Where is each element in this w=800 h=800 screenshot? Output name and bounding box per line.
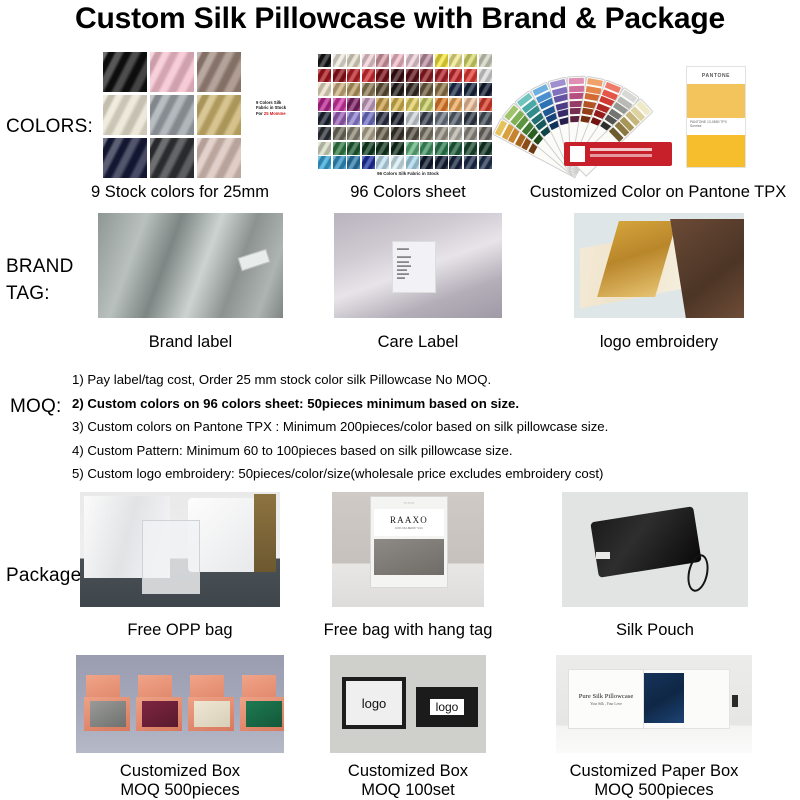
sheet-swatch-83 (464, 142, 477, 155)
brand-label-tag (238, 249, 271, 272)
sheet-swatch-29 (376, 83, 389, 96)
logo-box-caption: Customized Box MOQ 100set (320, 762, 496, 800)
color-sheet-inline-caption: 96 Colors Silk Fabric in Stock (319, 171, 497, 176)
sheet-swatch-35 (464, 83, 477, 96)
stock-colors-note: 9 Colors Silk Fabric in Stock For 25 Mom… (256, 100, 302, 116)
opp-bag-clear (142, 520, 200, 594)
moq-item-3: 3) Custom colors on Pantone TPX : Minimu… (72, 415, 692, 439)
paper-box-sleeve: Pure Silk Pillowcase Your Silk , Your Lo… (568, 669, 644, 729)
brand-row-label-line2: TAG: (6, 283, 50, 305)
sheet-swatch-4 (362, 54, 375, 67)
sheet-swatch-8 (420, 54, 433, 67)
sheet-swatch-10 (449, 54, 462, 67)
stock-swatch-8 (150, 138, 194, 178)
care-label-tag: ▃▃▃▃▃▃ ▃▃▃▃▃▃▃▃▃▃▃▃▃▃▃▃▃▃▃▃▃▃▃▃▃▃▃▃▃▃▃▃▃… (392, 241, 436, 293)
stock-swatch-6 (197, 95, 241, 135)
paper-box-accent (732, 695, 738, 707)
brand-label-photo (98, 213, 283, 318)
sheet-swatch-81 (435, 142, 448, 155)
care-label-photo: ▃▃▃▃▃▃ ▃▃▃▃▃▃▃▃▃▃▃▃▃▃▃▃▃▃▃▃▃▃▃▃▃▃▃▃▃▃▃▃▃… (334, 213, 502, 318)
sheet-swatch-34 (449, 83, 462, 96)
sheet-swatch-77 (376, 142, 389, 155)
opp-bag-caption: Free OPP bag (80, 621, 280, 640)
sheet-swatch-21 (435, 69, 448, 82)
sheet-swatch-88 (362, 156, 375, 169)
moq-row-label: MOQ: (10, 396, 61, 418)
hang-tag-brand: RAAXO (374, 515, 444, 525)
sheet-swatch-7 (406, 54, 419, 67)
sheet-swatch-91 (406, 156, 419, 169)
sheet-swatch-82 (449, 142, 462, 155)
sheet-swatch-26 (333, 83, 346, 96)
logo-embroidery-caption: logo embroidery (574, 333, 744, 352)
sheet-swatch-71 (464, 127, 477, 140)
sheet-swatch-72 (479, 127, 492, 140)
sheet-swatch-90 (391, 156, 404, 169)
customized-box-1 (84, 675, 130, 733)
color-sheet-grid (318, 54, 492, 169)
moq-item-5: 5) Custom logo embroidery: 50pieces/colo… (72, 462, 692, 486)
paper-box-photo: Pure Silk Pillowcase Your Silk , Your Lo… (556, 655, 752, 753)
sheet-swatch-36 (479, 83, 492, 96)
pantone-caption: Customized Color on Pantone TPX (516, 183, 800, 202)
sheet-swatch-84 (479, 142, 492, 155)
sheet-swatch-68 (420, 127, 433, 140)
sheet-swatch-20 (420, 69, 433, 82)
paper-box-title: Pure Silk Pillowcase (579, 693, 634, 700)
sheet-swatch-74 (333, 142, 346, 155)
pantone-card-header: PANTONE (687, 67, 745, 84)
pantone-card-code: PANTONE 13-0850 TPX Sunrise (687, 118, 745, 135)
stock-colors-grid (103, 52, 241, 178)
sheet-swatch-87 (347, 156, 360, 169)
sheet-swatch-49 (318, 112, 331, 125)
sheet-swatch-94 (449, 156, 462, 169)
sheet-swatch-44 (420, 98, 433, 111)
sheet-swatch-47 (464, 98, 477, 111)
logo-box-photo: logo logo (330, 655, 486, 753)
sheet-swatch-67 (406, 127, 419, 140)
sheet-swatch-28 (362, 83, 375, 96)
silk-pouch-body (590, 506, 701, 578)
sheet-swatch-92 (420, 156, 433, 169)
sheet-swatch-96 (479, 156, 492, 169)
moq-list: 1) Pay label/tag cost, Order 25 mm stock… (72, 368, 692, 486)
pantone-swatch-card: PANTONE PANTONE 13-0850 TPX Sunrise (686, 66, 746, 168)
silk-pouch-photo (562, 492, 748, 607)
sheet-swatch-30 (391, 83, 404, 96)
sheet-swatch-19 (406, 69, 419, 82)
sheet-swatch-9 (435, 54, 448, 67)
color-sheet-photo: 96 Colors Silk Fabric in Stock (312, 48, 504, 178)
sheet-swatch-3 (347, 54, 360, 67)
sheet-swatch-39 (347, 98, 360, 111)
package-row-label: Package: (6, 565, 87, 587)
sheet-swatch-60 (479, 112, 492, 125)
hang-tag-silk (374, 539, 444, 575)
stock-swatch-4 (103, 95, 147, 135)
care-label-caption: Care Label (334, 333, 502, 352)
sheet-swatch-70 (449, 127, 462, 140)
sheet-swatch-33 (435, 83, 448, 96)
sheet-swatch-18 (391, 69, 404, 82)
paper-box-caption: Customized Paper Box MOQ 500pieces (546, 762, 762, 800)
sheet-swatch-43 (406, 98, 419, 111)
logo-box-open: logo (342, 677, 406, 729)
sheet-swatch-63 (347, 127, 360, 140)
sheet-swatch-15 (347, 69, 360, 82)
stock-swatch-3 (197, 52, 241, 92)
pantone-swatch-top (687, 84, 745, 118)
sheet-swatch-45 (435, 98, 448, 111)
sheet-swatch-76 (362, 142, 375, 155)
sheet-swatch-79 (406, 142, 419, 155)
paper-box-subtitle: Your Silk , Your Love (590, 702, 622, 706)
customized-box-photo (76, 655, 284, 753)
sheet-swatch-48 (479, 98, 492, 111)
sheet-swatch-6 (391, 54, 404, 67)
sheet-swatch-62 (333, 127, 346, 140)
sheet-swatch-25 (318, 83, 331, 96)
pantone-fan-base (564, 142, 672, 166)
sheet-swatch-23 (464, 69, 477, 82)
sheet-swatch-50 (333, 112, 346, 125)
sheet-swatch-58 (449, 112, 462, 125)
sheet-swatch-1 (318, 54, 331, 67)
silk-pouch-label (596, 552, 610, 559)
sheet-swatch-42 (391, 98, 404, 111)
opp-bed-frame (254, 494, 276, 572)
customized-box-4 (240, 675, 284, 733)
sheet-swatch-55 (406, 112, 419, 125)
infographic-page: Custom Silk Pillowcase with Brand & Pack… (0, 0, 800, 800)
sheet-swatch-89 (376, 156, 389, 169)
logo-embroidery-photo (574, 213, 744, 318)
logo-box-lid-text: logo (430, 699, 465, 715)
moq-item-2: 2) Custom colors on 96 colors sheet: 50p… (72, 392, 692, 416)
customized-box-items (84, 675, 284, 733)
stock-swatch-9 (197, 138, 241, 178)
sheet-swatch-61 (318, 127, 331, 140)
sheet-swatch-59 (464, 112, 477, 125)
stock-swatch-2 (150, 52, 194, 92)
hang-tag-brand-sub: 100% MULBERRY SILK (374, 527, 444, 530)
sheet-swatch-32 (420, 83, 433, 96)
hang-tag-bag-clear: ▭ ▭ ▭ RAAXO 100% MULBERRY SILK (370, 496, 448, 588)
sheet-swatch-78 (391, 142, 404, 155)
sheet-swatch-75 (347, 142, 360, 155)
color-sheet-caption: 96 Colors sheet (312, 183, 504, 202)
logo-box-lid: logo (416, 687, 478, 727)
sheet-swatch-27 (347, 83, 360, 96)
sheet-swatch-13 (318, 69, 331, 82)
sheet-swatch-14 (333, 69, 346, 82)
logo-box-open-text: logo (346, 681, 402, 725)
sheet-swatch-41 (376, 98, 389, 111)
sheet-swatch-2 (333, 54, 346, 67)
sheet-swatch-37 (318, 98, 331, 111)
moq-item-4: 4) Custom Pattern: Minimum 60 to 100piec… (72, 439, 692, 463)
sheet-swatch-53 (376, 112, 389, 125)
embroidery-brown-silk (670, 219, 744, 318)
brand-label-caption: Brand label (98, 333, 283, 352)
sheet-swatch-12 (479, 54, 492, 67)
pantone-swatch-bottom (687, 135, 745, 167)
sheet-swatch-65 (376, 127, 389, 140)
customized-box-caption: Customized Box MOQ 500pieces (70, 762, 290, 800)
moq-item-1: 1) Pay label/tag cost, Order 25 mm stock… (72, 368, 692, 392)
sheet-swatch-85 (318, 156, 331, 169)
sheet-swatch-38 (333, 98, 346, 111)
opp-bag-photo (80, 492, 280, 607)
sheet-swatch-51 (347, 112, 360, 125)
sheet-swatch-11 (464, 54, 477, 67)
brand-row-label-line1: BRAND (6, 256, 74, 278)
sheet-swatch-17 (376, 69, 389, 82)
sheet-swatch-73 (318, 142, 331, 155)
page-title: Custom Silk Pillowcase with Brand & Pack… (0, 2, 800, 36)
sheet-swatch-66 (391, 127, 404, 140)
sheet-swatch-69 (435, 127, 448, 140)
sheet-swatch-46 (449, 98, 462, 111)
sheet-swatch-24 (479, 69, 492, 82)
sheet-swatch-31 (406, 83, 419, 96)
sheet-swatch-95 (464, 156, 477, 169)
stock-swatch-7 (103, 138, 147, 178)
sheet-swatch-40 (362, 98, 375, 111)
sheet-swatch-80 (420, 142, 433, 155)
customized-box-2 (136, 675, 182, 733)
stock-swatch-1 (103, 52, 147, 92)
pantone-photo: PANTONE PANTONE 13-0850 TPX Sunrise (528, 48, 788, 178)
sheet-swatch-64 (362, 127, 375, 140)
stock-swatch-5 (150, 95, 194, 135)
stock-colors-caption: 9 Stock colors for 25mm (60, 183, 300, 202)
sheet-swatch-86 (333, 156, 346, 169)
customized-box-3 (188, 675, 234, 733)
sheet-swatch-93 (435, 156, 448, 169)
sheet-swatch-52 (362, 112, 375, 125)
silk-pouch-caption: Silk Pouch (562, 621, 748, 640)
sheet-swatch-57 (435, 112, 448, 125)
sheet-swatch-16 (362, 69, 375, 82)
colors-row-label: COLORS: (6, 116, 93, 138)
hang-tag-caption: Free bag with hang tag (318, 621, 498, 640)
hang-tag-bag-photo: ▭ ▭ ▭ RAAXO 100% MULBERRY SILK (332, 492, 484, 607)
sheet-swatch-22 (449, 69, 462, 82)
sheet-swatch-54 (391, 112, 404, 125)
sheet-swatch-56 (420, 112, 433, 125)
sheet-swatch-5 (376, 54, 389, 67)
